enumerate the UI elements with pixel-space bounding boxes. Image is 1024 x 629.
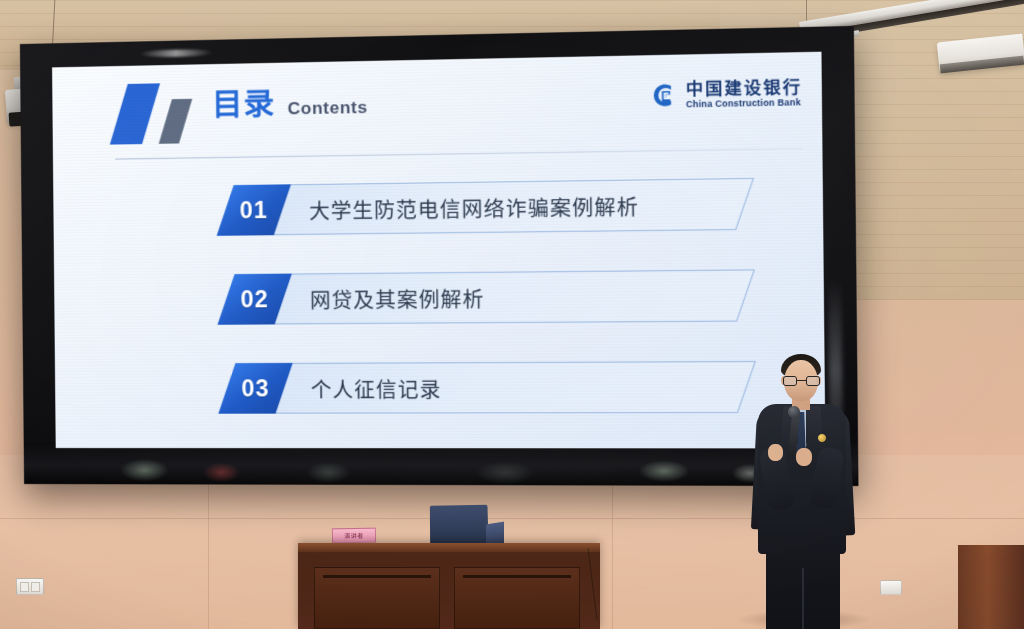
podium-top: [298, 543, 600, 552]
presenter-hand-left: [768, 444, 783, 461]
laptop-icon: [430, 505, 489, 546]
wall-seam: [0, 518, 1024, 519]
podium-panel: [314, 567, 440, 629]
slide-contents-page: 目录 Contents 中国建设银行 China Construction Ba…: [52, 52, 825, 449]
list-item-badge: 03: [218, 363, 292, 414]
podium-panel: [454, 567, 580, 629]
slide-title-cn: 目录: [212, 89, 276, 121]
slide-title-en: Contents: [287, 98, 367, 120]
door-edge: [958, 545, 1024, 629]
presenter-hand-right: [796, 448, 812, 466]
presentation-display: 目录 Contents 中国建设银行 China Construction Ba…: [20, 26, 859, 486]
list-item-label: 个人征信记录: [311, 362, 442, 413]
header-divider: [115, 148, 803, 160]
list-item-number: 02: [226, 274, 284, 325]
brand-name-cn: 中国建设银行: [686, 79, 803, 98]
list-item-number: 03: [227, 363, 285, 414]
contents-list: 01 大学生防范电信网络诈骗案例解析 02 网贷及其案例解析 03: [53, 177, 825, 448]
lapel-pin-icon: [818, 434, 826, 442]
slide-header: 目录 Contents 中国建设银行 China Construction Ba…: [52, 52, 822, 164]
list-item-label: 网贷及其案例解析: [310, 272, 485, 324]
podium-nameplate: 演讲者: [332, 528, 376, 544]
slash-accent-icon: [110, 83, 160, 144]
bezel-reflection: [24, 442, 859, 486]
list-item[interactable]: 02 网贷及其案例解析: [54, 269, 824, 330]
list-item-number: 01: [225, 184, 283, 235]
presenter: [744, 352, 860, 629]
podium-nameplate-text: 演讲者: [344, 531, 364, 540]
lecture-hall-scene: 目录 Contents 中国建设银行 China Construction Ba…: [0, 0, 1024, 629]
light-switch-icon[interactable]: [16, 578, 44, 595]
brand-logo: 中国建设银行 China Construction Bank: [651, 79, 803, 109]
presenter-leg-seam: [802, 568, 804, 629]
slash-accent-secondary-icon: [159, 99, 192, 144]
list-item-badge: 01: [217, 184, 291, 236]
power-socket-icon[interactable]: [880, 580, 902, 595]
list-item-label: 大学生防范电信网络诈骗案例解析: [309, 179, 639, 234]
list-item[interactable]: 01 大学生防范电信网络诈骗案例解析: [53, 177, 823, 242]
list-item-badge: 02: [217, 274, 291, 325]
glasses-icon: [783, 376, 820, 386]
brand-name-en: China Construction Bank: [686, 98, 802, 109]
podium: [298, 543, 600, 629]
list-item[interactable]: 03 个人征信记录: [55, 361, 825, 418]
ccb-logo-icon: [651, 82, 679, 109]
